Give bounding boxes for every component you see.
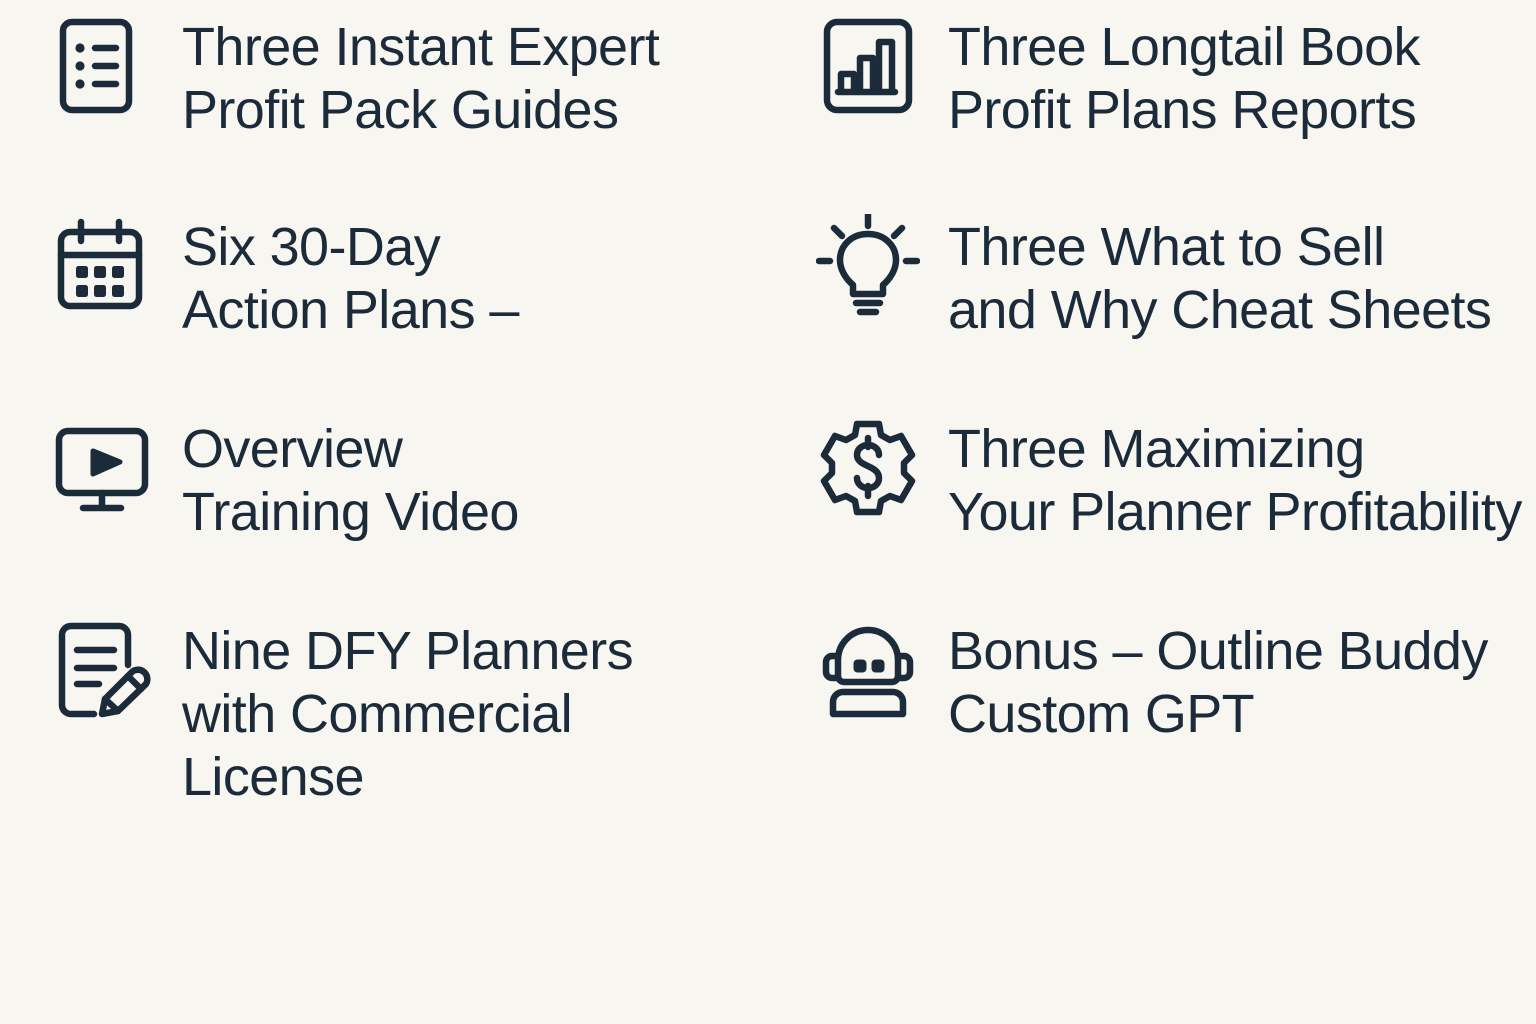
feature-item-dfy-planners-commercial-license: Nine DFY Planners with Commercial Licens… bbox=[0, 604, 760, 804]
bar-chart-icon bbox=[816, 14, 920, 118]
feature-item-overview-training-video: Overview Training Video bbox=[0, 402, 760, 604]
feature-item-thirty-day-action-plans: Six 30-Day Action Plans – bbox=[0, 200, 760, 402]
feature-label: Bonus – Outline Buddy Custom GPT bbox=[948, 618, 1488, 746]
feature-label: Overview Training Video bbox=[182, 416, 519, 544]
feature-label: Three What to Sell and Why Cheat Sheets bbox=[948, 214, 1491, 342]
feature-label: Nine DFY Planners with Commercial Licens… bbox=[182, 618, 760, 810]
feature-item-bonus-outline-buddy-gpt: Bonus – Outline Buddy Custom GPT bbox=[760, 604, 1536, 804]
monitor-play-icon bbox=[50, 416, 154, 520]
bottom-spacer bbox=[0, 804, 1536, 1024]
document-pencil-icon bbox=[50, 618, 154, 722]
gear-dollar-icon bbox=[816, 416, 920, 520]
feature-item-what-to-sell-cheat-sheets: Three What to Sell and Why Cheat Sheets bbox=[760, 200, 1536, 402]
feature-grid: Three Instant Expert Profit Pack Guides … bbox=[0, 0, 1536, 1024]
calendar-icon bbox=[50, 214, 154, 318]
feature-item-longtail-book-profit-plans: Three Longtail Book Profit Plans Reports bbox=[760, 0, 1536, 200]
feature-label: Three Maximizing Your Planner Profitabil… bbox=[948, 416, 1522, 544]
feature-label: Six 30-Day Action Plans – bbox=[182, 214, 519, 342]
lightbulb-icon bbox=[816, 214, 920, 318]
robot-icon bbox=[816, 618, 920, 722]
feature-item-instant-expert-profit-pack: Three Instant Expert Profit Pack Guides bbox=[0, 0, 760, 200]
feature-label: Three Longtail Book Profit Plans Reports bbox=[948, 14, 1420, 142]
document-list-icon bbox=[50, 14, 154, 118]
feature-list-board: Three Instant Expert Profit Pack Guides … bbox=[0, 0, 1536, 1024]
feature-label: Three Instant Expert Profit Pack Guides bbox=[182, 14, 659, 142]
feature-item-maximizing-planner-profitability: Three Maximizing Your Planner Profitabil… bbox=[760, 402, 1536, 604]
